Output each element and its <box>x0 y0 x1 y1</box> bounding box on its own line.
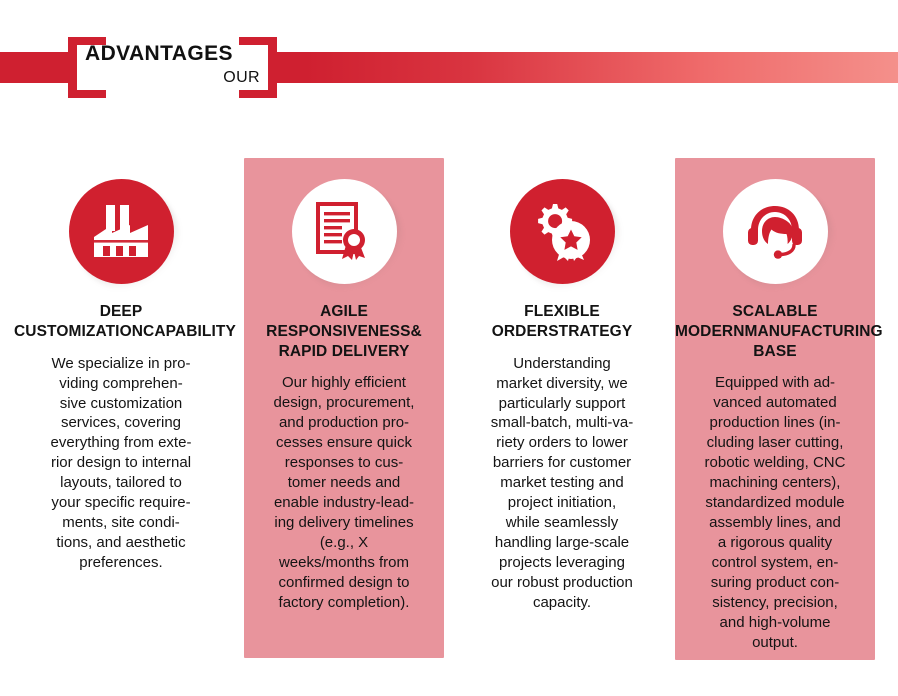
card-description-line: market diversity, we <box>466 374 658 394</box>
card-description-line: sive customization <box>14 394 228 414</box>
card-description-line: a rigorous quality <box>675 533 875 553</box>
card-description-line: handling large-scale <box>466 533 658 553</box>
card-content: FLEXIBLE ORDERSTRATEGYUnderstandingmarke… <box>466 158 658 613</box>
card-description-line: vanced automated <box>675 393 875 413</box>
card-description-line: Equipped with ad- <box>675 373 875 393</box>
card-description-line: We specialize in pro- <box>14 354 228 374</box>
card-description-line: everything from exte- <box>14 433 228 453</box>
card-description-line: enable industry-lead- <box>244 493 444 513</box>
card-description-line: assembly lines, and <box>675 513 875 533</box>
card-description-line: capacity. <box>466 593 658 613</box>
advantage-cards-container: DEEP CUSTOMIZATIONCAPABILITYWe specializ… <box>0 0 898 696</box>
card-content: DEEP CUSTOMIZATIONCAPABILITYWe specializ… <box>14 158 228 573</box>
card-description-line: weeks/months from <box>244 553 444 573</box>
card-icon-badge <box>510 179 615 284</box>
card-description-line: output. <box>675 633 875 653</box>
card-content: SCALABLE MODERNMANUFACTURING BASEEquippe… <box>675 158 875 653</box>
gear-star-award-icon <box>510 179 615 284</box>
card-description-line: small-batch, multi-va- <box>466 413 658 433</box>
card-description-line: riety orders to lower <box>466 433 658 453</box>
card-description-line: (e.g., X <box>244 533 444 553</box>
card-description-line: suring product con- <box>675 573 875 593</box>
card-title-line: MANUFACTURING BASE <box>745 323 883 360</box>
card-description-line: viding comprehen- <box>14 374 228 394</box>
headset-support-agent-icon <box>723 179 828 284</box>
card-title: AGILE RESPONSIVENESS& RAPID DELIVERY <box>244 302 444 361</box>
card-description-line: tomer needs and <box>244 473 444 493</box>
card-description-line: tions, and aesthetic <box>14 533 228 553</box>
certificate-icon <box>292 179 397 284</box>
card-description-line: responses to cus- <box>244 453 444 473</box>
card-description-line: services, covering <box>14 413 228 433</box>
card-title: FLEXIBLE ORDERSTRATEGY <box>466 302 658 342</box>
card-description-line: while seamlessly <box>466 513 658 533</box>
card-description-line: project initiation, <box>466 493 658 513</box>
card-description-line: particularly support <box>466 394 658 414</box>
card-content: AGILE RESPONSIVENESS& RAPID DELIVERYOur … <box>244 158 444 613</box>
card-description-line: barriers for customer <box>466 453 658 473</box>
card-title-line: DEEP CUSTOMIZATION <box>14 303 143 340</box>
card-icon-badge <box>69 179 174 284</box>
card-description-line: layouts, tailored to <box>14 473 228 493</box>
card-description: We specialize in pro-viding comprehen-si… <box>14 354 228 573</box>
card-description-line: ments, site condi- <box>14 513 228 533</box>
card-description-line: control system, en- <box>675 553 875 573</box>
card-description-line: rior design to internal <box>14 453 228 473</box>
card-description: Equipped with ad-vanced automatedproduct… <box>675 373 875 652</box>
card-title-line: STRATEGY <box>548 323 632 340</box>
card-description-line: cluding laser cutting, <box>675 433 875 453</box>
card-description-line: your specific require- <box>14 493 228 513</box>
card-description-line: confirmed design to <box>244 573 444 593</box>
card-description-line: preferences. <box>14 553 228 573</box>
card-icon-badge <box>292 179 397 284</box>
card-description: Our highly efficientdesign, procurement,… <box>244 373 444 612</box>
card-description-line: and high-volume <box>675 613 875 633</box>
card-description-line: projects leveraging <box>466 553 658 573</box>
card-description-line: cesses ensure quick <box>244 433 444 453</box>
card-title: DEEP CUSTOMIZATIONCAPABILITY <box>14 302 228 342</box>
card-description-line: factory completion). <box>244 593 444 613</box>
card-description-line: production lines (in- <box>675 413 875 433</box>
factory-icon <box>69 179 174 284</box>
card-description-line: machining centers), <box>675 473 875 493</box>
card-description-line: Understanding <box>466 354 658 374</box>
card-description-line: Our highly efficient <box>244 373 444 393</box>
card-description: Understandingmarket diversity, weparticu… <box>466 354 658 613</box>
card-description-line: robotic welding, CNC <box>675 453 875 473</box>
card-description-line: design, procurement, <box>244 393 444 413</box>
card-description-line: standardized module <box>675 493 875 513</box>
card-title: SCALABLE MODERNMANUFACTURING BASE <box>675 302 875 361</box>
card-description-line: market testing and <box>466 473 658 493</box>
card-title-line: AGILE RESPONSIVENESS <box>266 303 410 340</box>
card-description-line: our robust production <box>466 573 658 593</box>
card-icon-badge <box>723 179 828 284</box>
card-description-line: ing delivery timelines <box>244 513 444 533</box>
card-title-line: CAPABILITY <box>143 323 236 340</box>
card-description-line: and production pro- <box>244 413 444 433</box>
card-description-line: sistency, precision, <box>675 593 875 613</box>
